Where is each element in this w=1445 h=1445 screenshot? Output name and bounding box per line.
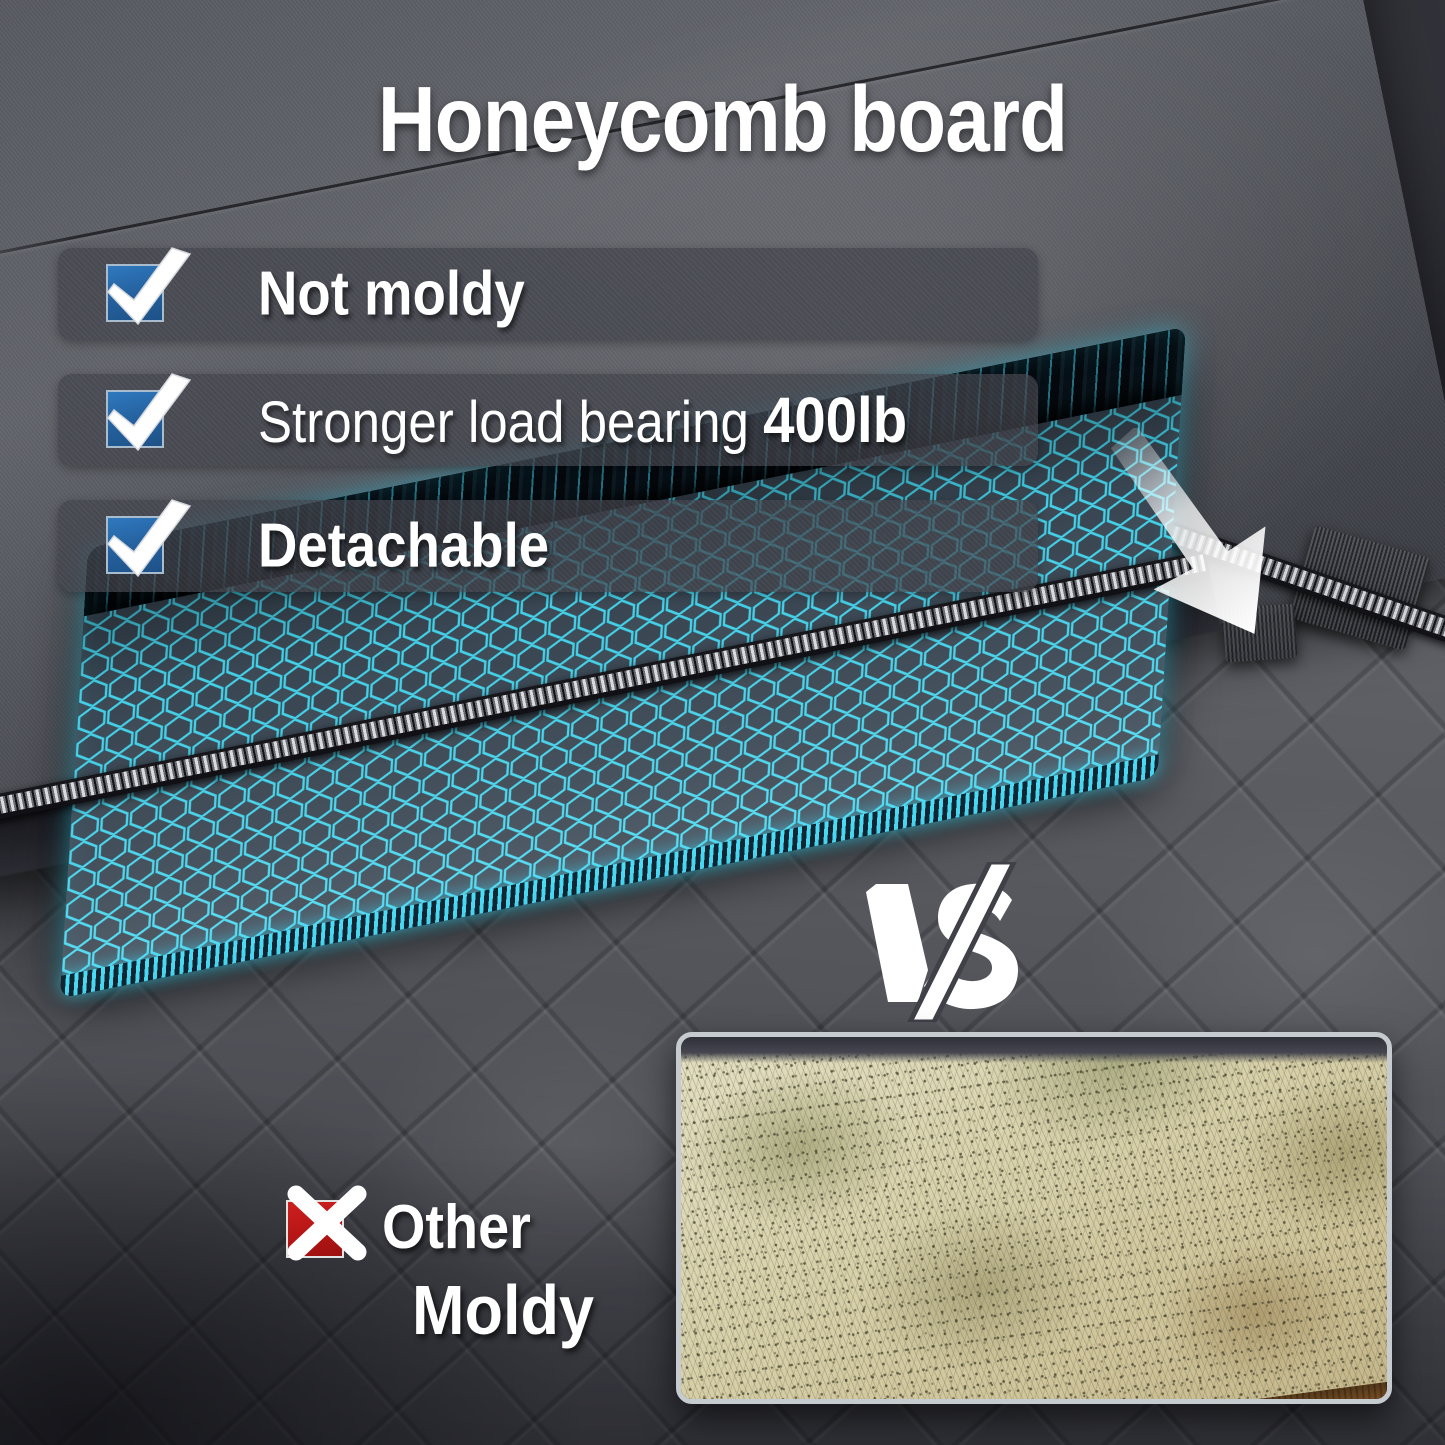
moldy-label: Moldy xyxy=(412,1270,594,1350)
checkbox-box xyxy=(106,516,164,574)
checkbox-box xyxy=(106,390,164,448)
feature-label: Not moldy xyxy=(258,259,525,330)
feature-item-detachable: Detachable xyxy=(58,500,1038,592)
arrow-down-right-icon xyxy=(1078,428,1388,660)
checkbox-box xyxy=(106,264,164,322)
feature-label: Detachable xyxy=(258,511,549,582)
feature-item-not-moldy: Not moldy xyxy=(58,248,1038,340)
feature-label-emphasis: 400lb xyxy=(763,384,907,456)
feature-list: Not moldy Stronger load bearing 400lb De… xyxy=(58,248,1038,626)
photo-top-shadow xyxy=(681,1037,1387,1063)
cross-icon xyxy=(282,1182,378,1278)
page-title: Honeycomb board xyxy=(101,66,1344,173)
product-infographic: Honeycomb board Not moldy Stronger load … xyxy=(0,0,1445,1445)
feature-item-load-bearing: Stronger load bearing 400lb xyxy=(58,374,1038,466)
mold-speckles xyxy=(676,1032,1392,1404)
moldy-board-photo xyxy=(676,1032,1392,1404)
other-label: Other xyxy=(382,1192,531,1263)
feature-label: Stronger load bearing 400lb xyxy=(258,383,907,457)
feature-label-text: Stronger load bearing xyxy=(258,390,763,455)
vs-badge xyxy=(862,862,1042,1022)
